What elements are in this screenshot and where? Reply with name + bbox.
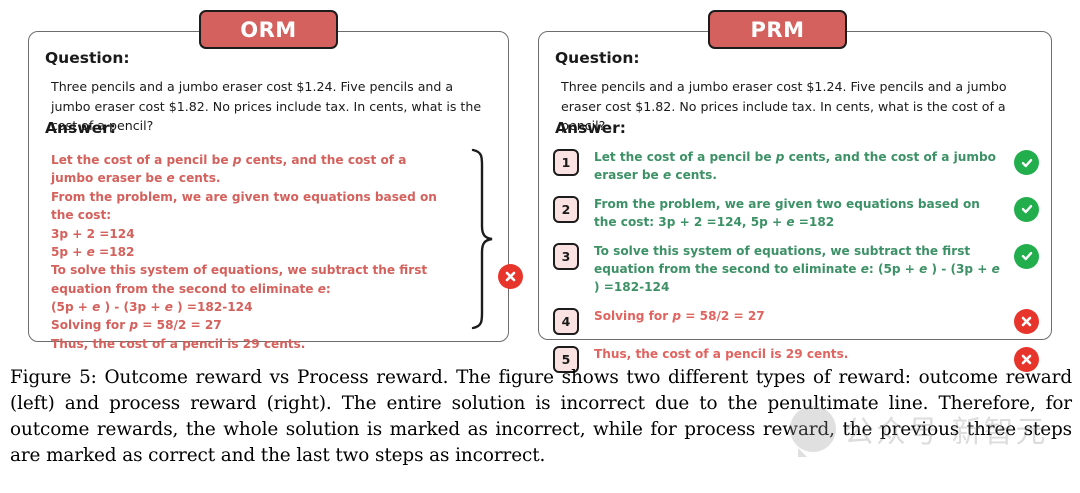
orm-line-5: (5p + e ) - (3p + e ) =182-124 [51,300,253,314]
step-number-badge: 2 [553,196,579,223]
orm-answer-line: 3p + 2 =124 [51,225,446,243]
prm-badge: PRM [708,10,847,49]
orm-answer-line: From the problem, we are given two equat… [51,188,446,225]
prm-step-row: 4 Solving for p = 58/2 = 27 [553,306,1039,335]
cross-circle-icon [498,264,523,289]
orm-badge: ORM [199,10,338,49]
check-circle-icon [1014,244,1039,269]
figure-caption: Figure 5: Outcome reward vs Process rewa… [10,365,1072,470]
orm-panel: Question: Three pencils and a jumbo eras… [28,31,509,342]
step-status [1014,197,1039,222]
step-text: From the problem, we are given two equat… [594,194,1006,232]
step-status [1014,150,1039,175]
check-circle-icon [1014,197,1039,222]
step-text: To solve this system of equations, we su… [594,241,1006,297]
figure-area: Question: Three pencils and a jumbo eras… [0,0,1080,355]
orm-answer-line: Solving for p = 58/2 = 27 [51,316,446,334]
grouping-brace [469,148,495,330]
cross-circle-icon [1014,309,1039,334]
prm-step-row: 1 Let the cost of a pencil be p cents, a… [553,147,1039,185]
orm-question-text: Three pencils and a jumbo eraser cost $1… [51,77,489,136]
prm-question-text: Three pencils and a jumbo eraser cost $1… [561,77,1031,136]
orm-answer-label: Answer: [45,119,116,137]
step-text: Thus, the cost of a pencil is 29 cents. [594,344,1006,363]
orm-answer-line: Let the cost of a pencil be p cents, and… [51,151,446,188]
orm-answer-line: (5p + e ) - (3p + e ) =182-124 [51,298,446,316]
orm-answer-line: Thus, the cost of a pencil is 29 cents. [51,335,446,353]
orm-answer-line: 5p + e =182 [51,243,446,261]
prm-answer-label: Answer: [555,119,626,137]
step-number-badge: 3 [553,243,579,270]
orm-line-4: To solve this system of equations, we su… [51,263,427,295]
orm-line-0: Let the cost of a pencil be p cents, and… [51,153,406,185]
step-number-badge: 1 [553,149,579,176]
orm-line-2: 3p + 2 =124 [51,227,135,241]
prm-step-row: 2 From the problem, we are given two equ… [553,194,1039,232]
prm-panel: Question: Three pencils and a jumbo eras… [538,31,1052,340]
orm-answer-line: To solve this system of equations, we su… [51,261,446,298]
orm-answer-body: Let the cost of a pencil be p cents, and… [51,151,446,353]
orm-question-label: Question: [45,49,130,67]
step-text: Let the cost of a pencil be p cents, and… [594,147,1006,185]
step-text: Solving for p = 58/2 = 27 [594,306,1006,325]
step-status [1014,244,1039,269]
orm-line-1: From the problem, we are given two equat… [51,190,437,222]
orm-line-7: Thus, the cost of a pencil is 29 cents. [51,337,305,351]
prm-step-row: 3 To solve this system of equations, we … [553,241,1039,297]
check-circle-icon [1014,150,1039,175]
prm-steps-list: 1 Let the cost of a pencil be p cents, a… [553,147,1039,382]
prm-question-label: Question: [555,49,640,67]
orm-line-3: 5p + e =182 [51,245,134,259]
step-status [1014,309,1039,334]
step-number-badge: 4 [553,308,579,335]
orm-line-6: Solving for p = 58/2 = 27 [51,318,222,332]
